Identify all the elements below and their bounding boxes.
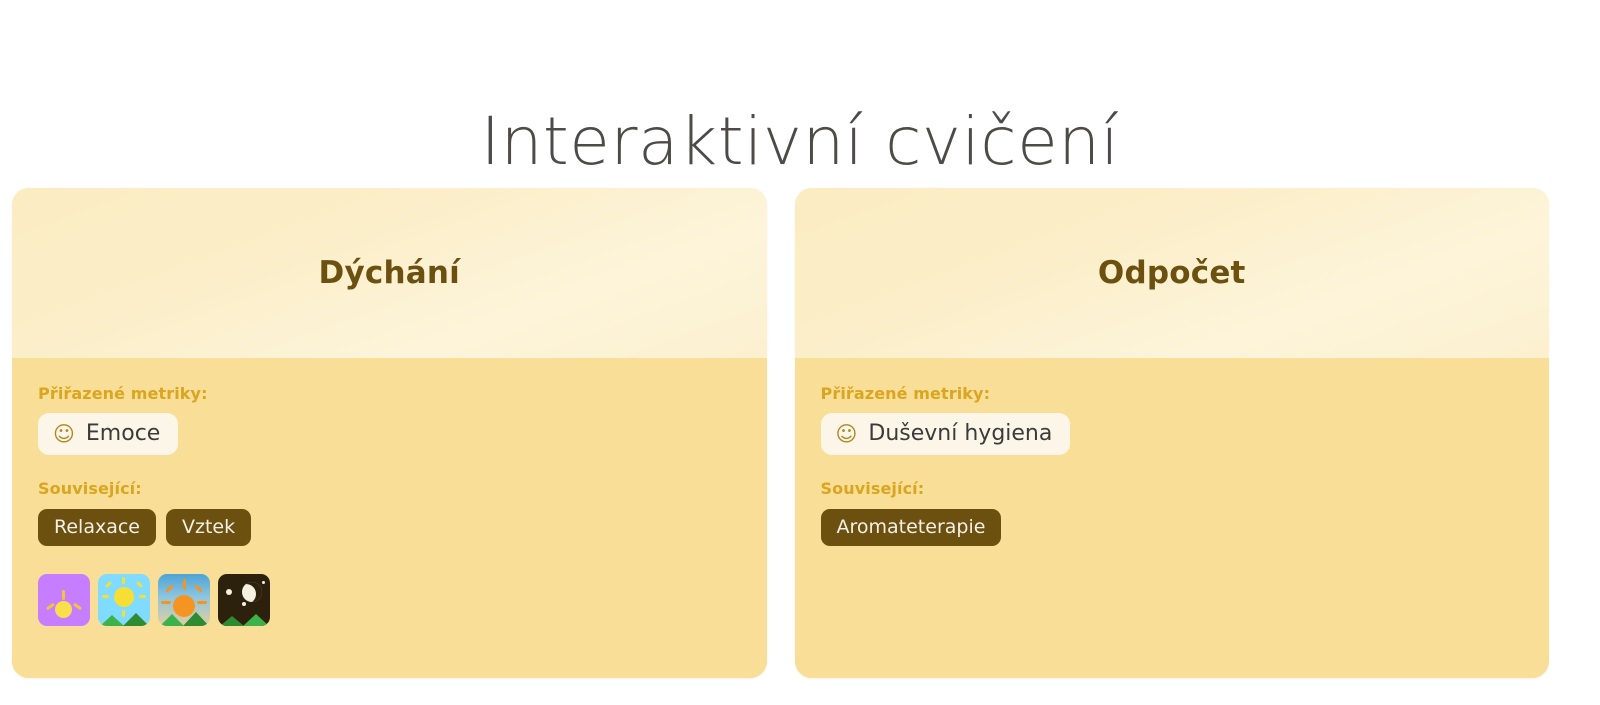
- card-body: Přiřazené metriky: ☺ Duševní hygiena Sou…: [795, 358, 1550, 678]
- page-root: Interaktivní cvičení Dýchání Přiřazené m…: [0, 0, 1600, 705]
- related-label: Související:: [38, 479, 767, 498]
- smiley-icon: ☺: [53, 424, 75, 445]
- hill-shape: [160, 614, 184, 626]
- related-tag[interactable]: Aromateterapie: [821, 509, 1002, 547]
- metrics-chip-row: ☺ Emoce: [38, 413, 767, 455]
- sun-day-scene-icon[interactable]: [98, 574, 150, 626]
- page-title: Interaktivní cvičení: [0, 106, 1600, 179]
- ray: [62, 590, 65, 600]
- card-body: Přiřazené metriky: ☺ Emoce Související: …: [12, 358, 767, 678]
- hill-shape: [61, 608, 89, 626]
- hill-shape: [123, 613, 149, 626]
- card-header: Dýchání: [12, 188, 767, 358]
- metric-chip[interactable]: ☺ Duševní hygiena: [821, 413, 1071, 455]
- related-tag[interactable]: Relaxace: [38, 509, 156, 547]
- smiley-icon: ☺: [836, 424, 858, 445]
- exercise-card-odpocet[interactable]: Odpočet Přiřazené metriky: ☺ Duševní hyg…: [795, 188, 1550, 678]
- related-tag-row: Relaxace Vztek: [38, 509, 767, 547]
- sunrise-icon[interactable]: [158, 574, 210, 626]
- night-with-stars-icon[interactable]: [218, 574, 270, 626]
- hill-shape: [243, 614, 269, 626]
- metric-chip-label: Duševní hygiena: [868, 422, 1052, 446]
- related-label: Související:: [821, 479, 1550, 498]
- exercise-card-grid: Dýchání Přiřazené metriky: ☺ Emoce Souvi…: [12, 188, 1549, 678]
- ray: [183, 579, 186, 590]
- hill-shape: [220, 616, 244, 626]
- ray: [161, 601, 171, 604]
- ray: [122, 577, 125, 584]
- scene-emoji-strip: [38, 574, 767, 626]
- card-title: Dýchání: [299, 255, 480, 291]
- metric-chip[interactable]: ☺ Emoce: [38, 413, 178, 455]
- related-tag-row: Aromateterapie: [821, 509, 1550, 547]
- hill-shape: [100, 615, 124, 626]
- hill-shape: [183, 612, 209, 626]
- sunrise-over-mountains-icon[interactable]: [38, 574, 90, 626]
- card-title: Odpočet: [1078, 255, 1266, 291]
- related-tag[interactable]: Vztek: [166, 509, 251, 547]
- card-header: Odpočet: [795, 188, 1550, 358]
- metric-chip-label: Emoce: [86, 422, 160, 446]
- metrics-label: Přiřazené metriky:: [38, 384, 767, 403]
- exercise-card-dychani[interactable]: Dýchání Přiřazené metriky: ☺ Emoce Souvi…: [12, 188, 767, 678]
- metrics-label: Přiřazené metriky:: [821, 384, 1550, 403]
- metrics-chip-row: ☺ Duševní hygiena: [821, 413, 1550, 455]
- ray: [197, 601, 207, 604]
